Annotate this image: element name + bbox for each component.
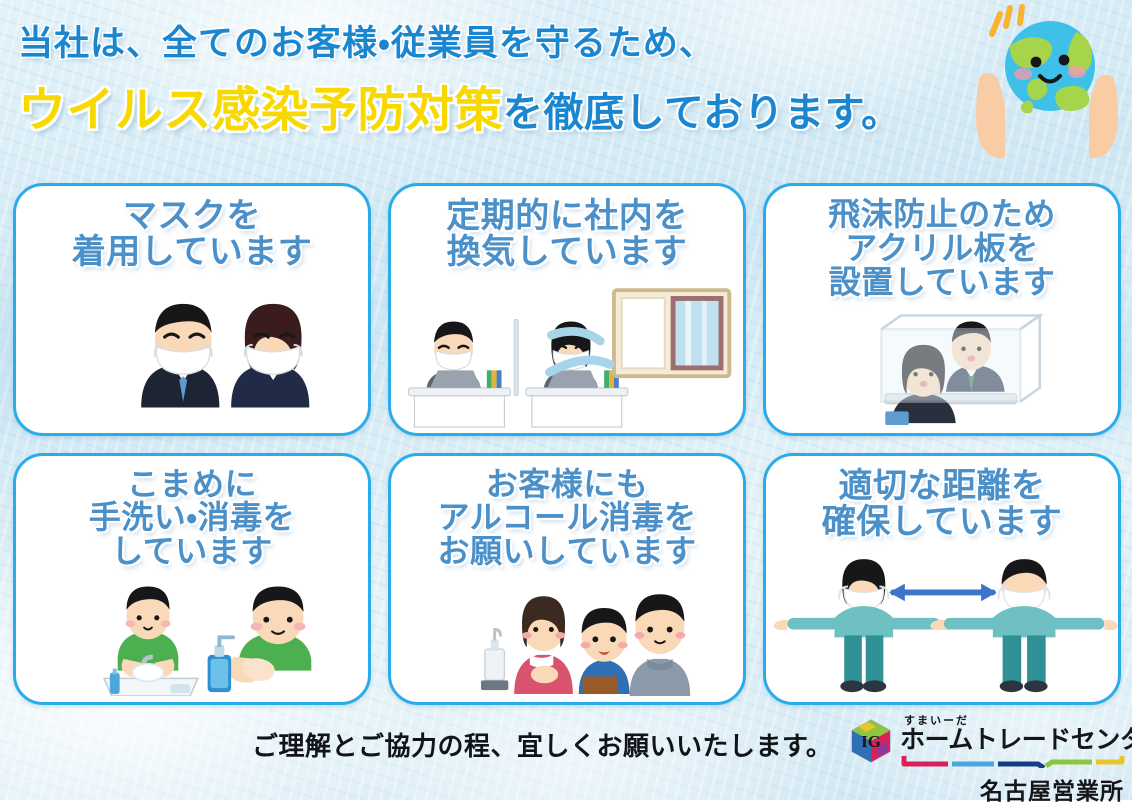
card-ventilation-line-2: 換気しています xyxy=(391,234,743,270)
card-ventilation-line-1: 定期的に社内を xyxy=(391,198,743,234)
poster-root: 当社は、全てのお客様・従業員を守るため、 ウイルス感染予防対策を徹底しております… xyxy=(0,0,1132,800)
logo-row: IG すまいーだ ホームトレードセンター xyxy=(848,716,1132,773)
card-distance-line-2: 確保しています xyxy=(766,504,1118,540)
card-customer-sanitize-line-1: お客様にも xyxy=(391,468,743,502)
card-handwash-line-3: しています xyxy=(16,535,368,569)
headline-line-2: ウイルス感染予防対策を徹底しております。 xyxy=(18,61,998,135)
headline-emphasis: ウイルス感染予防対策 xyxy=(18,84,503,137)
headline: 当社は、全てのお客様・従業員を守るため、 ウイルス感染予防対策を徹底しております… xyxy=(18,14,998,164)
handwash-and-sanitizer-icon xyxy=(16,576,368,696)
card-distance-line-1: 適切な距離を xyxy=(766,468,1118,504)
sparkle-icon xyxy=(992,7,1022,34)
measures-card-grid: マスクを 着用しています xyxy=(13,183,1121,705)
family-with-sanitizer-icon xyxy=(391,576,743,696)
card-ventilation: 定期的に社内を 換気しています xyxy=(388,183,746,436)
logo-branch-name: 名古屋営業所 xyxy=(980,772,1124,806)
logo-wordmark: すまいーだ ホームトレードセンター xyxy=(900,716,1132,773)
svg-text:IG: IG xyxy=(861,732,881,751)
card-mask: マスクを 着用しています xyxy=(13,183,371,436)
logo-underline-bars xyxy=(900,754,1126,768)
card-customer-sanitize-text: お客様にも アルコール消毒を お願いしています xyxy=(391,468,743,570)
headline-line-1: 当社は、全てのお客様・従業員を守るため、 xyxy=(18,14,998,61)
card-handwash-text: こまめに 手洗い・消毒を しています xyxy=(16,468,368,570)
ig-cube-mark-icon: IG xyxy=(848,718,894,764)
card-mask-line-2: 着用しています xyxy=(16,234,368,270)
distance-arrow-icon xyxy=(889,584,997,602)
card-mask-text: マスクを 着用しています xyxy=(16,198,368,270)
headline-remainder: を徹底しております。 xyxy=(503,91,902,135)
card-distance: 適切な距離を 確保しています xyxy=(763,453,1121,706)
card-handwash-line-1: こまめに xyxy=(16,468,368,502)
office-ventilation-icon xyxy=(391,279,743,429)
card-distance-text: 適切な距離を 確保しています xyxy=(766,468,1118,540)
card-handwash: こまめに 手洗い・消毒を しています xyxy=(13,453,371,706)
company-logo: IG すまいーだ ホームトレードセンター 名古屋営業所 xyxy=(848,716,1126,794)
card-acrylic-panel-line-1: 飛沫防止のため xyxy=(766,198,1118,232)
card-acrylic-panel-line-3: 設置しています xyxy=(766,266,1118,300)
social-distance-icon xyxy=(766,548,1118,698)
card-mask-line-1: マスクを xyxy=(16,198,368,234)
card-customer-sanitize: お客様にも アルコール消毒を お願いしています xyxy=(388,453,746,706)
card-customer-sanitize-line-3: お願いしています xyxy=(391,535,743,569)
card-acrylic-panel: 飛沫防止のため アクリル板を 設置しています xyxy=(763,183,1121,436)
acrylic-partition-icon xyxy=(766,307,1118,427)
earth-in-hands-icon xyxy=(944,4,1124,169)
card-handwash-line-2: 手洗い・消毒を xyxy=(16,501,368,535)
footer-note: ご理解とご協力の程、宜しくお願いいたします。 xyxy=(252,726,832,763)
card-customer-sanitize-line-2: アルコール消毒を xyxy=(391,501,743,535)
two-bowing-people-with-masks-icon xyxy=(16,279,368,429)
card-acrylic-panel-line-2: アクリル板を xyxy=(766,232,1118,266)
card-ventilation-text: 定期的に社内を 換気しています xyxy=(391,198,743,270)
card-acrylic-panel-text: 飛沫防止のため アクリル板を 設置しています xyxy=(766,198,1118,300)
logo-company-name: ホームトレードセンター xyxy=(900,727,1132,753)
